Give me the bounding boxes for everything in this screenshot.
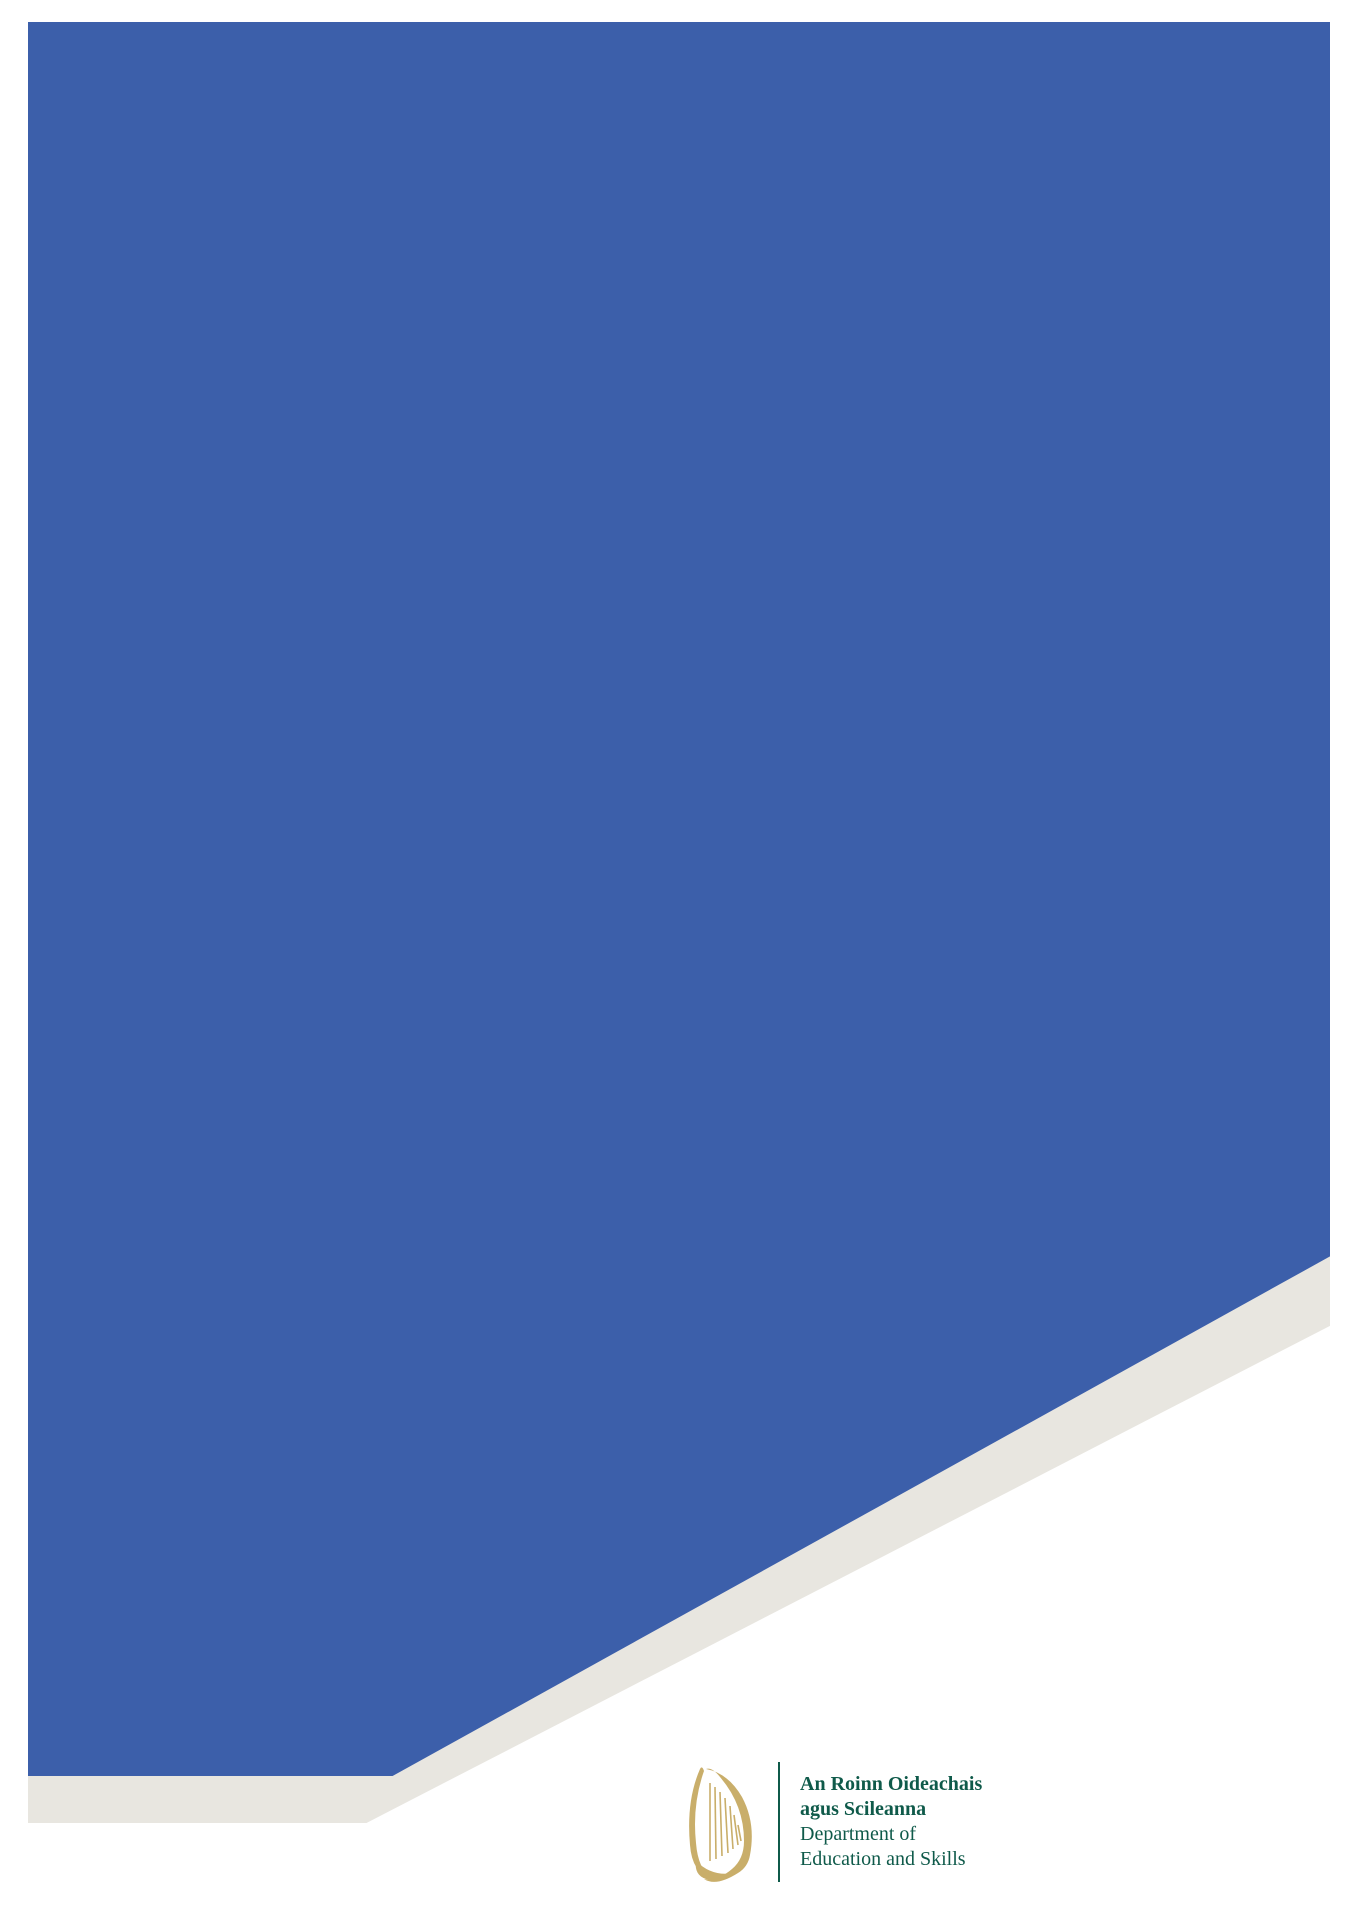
- poster-stage: Advice during COVID-19: Back to school A…: [28, 22, 1330, 1898]
- department-footer: An Roinn Oideachais agus Scileanna Depar…: [688, 1757, 982, 1887]
- footer-divider: [778, 1762, 780, 1882]
- poster-page: Advice during COVID-19: Back to school A…: [0, 0, 1358, 1920]
- dept-irish-line-2: agus Scileanna: [800, 1797, 982, 1822]
- blue-background-panel: [28, 22, 1330, 1898]
- irish-harp-icon: [688, 1757, 758, 1887]
- dept-irish-line-1: An Roinn Oideachais: [800, 1772, 982, 1797]
- department-name: An Roinn Oideachais agus Scileanna Depar…: [800, 1772, 982, 1872]
- dept-english-line-1: Department of: [800, 1822, 982, 1847]
- dept-english-line-2: Education and Skills: [800, 1847, 982, 1872]
